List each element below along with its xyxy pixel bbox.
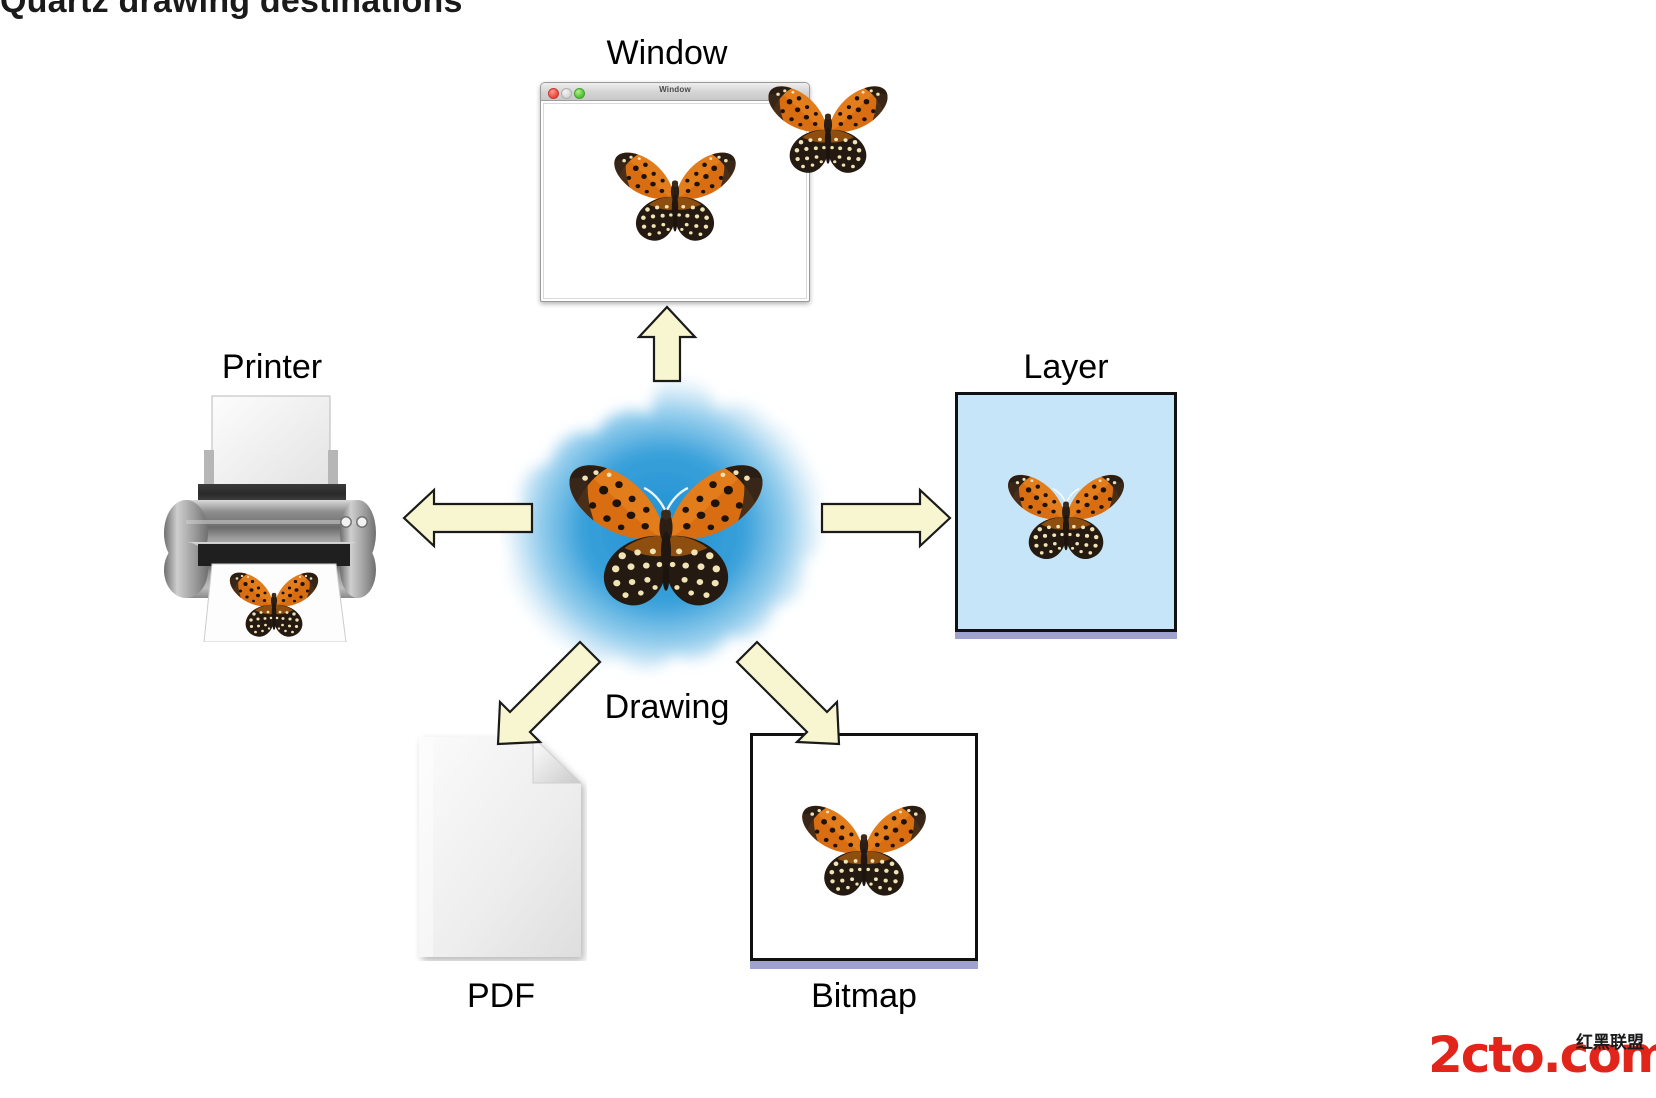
arrow-down-left-icon <box>492 640 602 750</box>
bitmap-shadow-bar <box>750 961 978 969</box>
arrow-right-icon <box>820 487 952 549</box>
pdf-label: PDF <box>351 977 651 1015</box>
bitmap-box[interactable] <box>750 733 978 961</box>
page-title: Quartz drawing destinations <box>0 0 463 21</box>
printer-icon[interactable] <box>150 392 394 642</box>
pdf-document-icon[interactable] <box>415 733 587 961</box>
diagram-canvas: Quartz drawing destinations <box>0 0 1656 1098</box>
butterfly-artwork <box>760 72 896 180</box>
butterfly-artwork <box>1000 461 1132 566</box>
layer-label: Layer <box>926 348 1206 386</box>
window-label: Window <box>517 34 817 72</box>
bitmap-label: Bitmap <box>714 977 1014 1015</box>
arrow-left-icon <box>402 487 534 549</box>
butterfly-artwork <box>606 138 744 248</box>
butterfly-artwork <box>794 791 934 903</box>
butterfly-artwork <box>555 442 777 617</box>
watermark-brand-cn: 红黑联盟 <box>1576 1028 1644 1053</box>
layer-shadow-bar <box>955 632 1177 639</box>
arrow-up-icon <box>636 305 698 383</box>
arrow-down-right-icon <box>735 640 845 750</box>
printer-label: Printer <box>132 348 412 386</box>
watermark: 2cto.com 红黑联盟 <box>1428 1022 1646 1088</box>
layer-box[interactable] <box>955 392 1177 632</box>
